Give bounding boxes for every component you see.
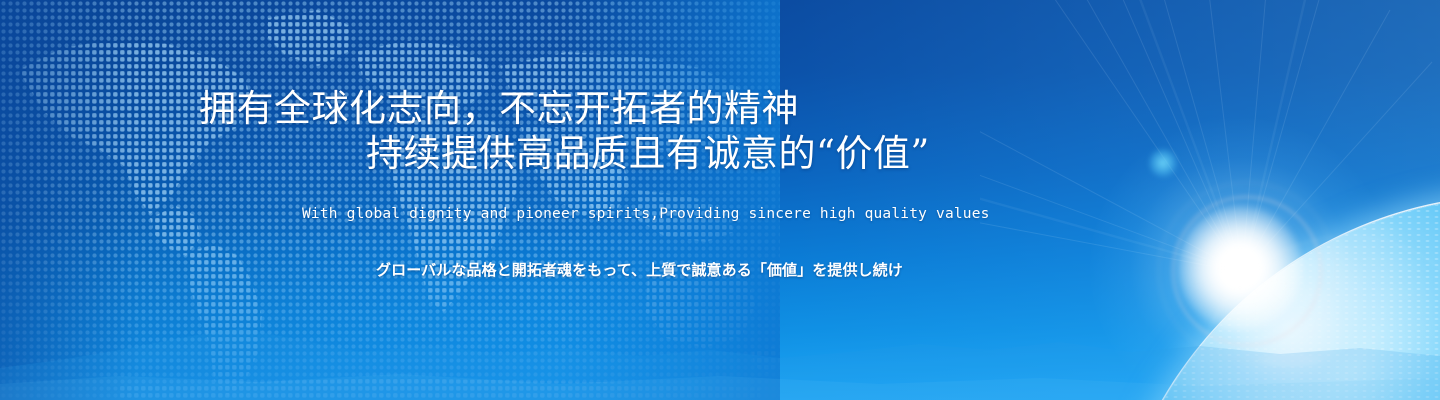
headline-line-2: 持续提供高品质且有诚意的“价值” — [366, 135, 930, 172]
world-map-dots — [0, 0, 780, 400]
earth-globe — [1108, 196, 1440, 400]
lens-flare-dot — [1148, 148, 1178, 178]
hero-banner: 拥有全球化志向，不忘开拓者的精神 持续提供高品质且有诚意的“价值” With g… — [0, 0, 1440, 400]
world-map-shape — [0, 0, 780, 400]
headline-line-1: 拥有全球化志向，不忘开拓者的精神 — [199, 90, 799, 127]
earth-atmosphere-rim — [1108, 196, 1440, 400]
subtitle-japanese: グローバルな品格と開拓者魂をもって、上質で誠意ある「価値」を提供し続け — [376, 259, 903, 280]
world-map-fade — [0, 0, 780, 400]
world-map-graphic — [0, 0, 780, 400]
subtitle-english: With global dignity and pioneer spirits,… — [302, 206, 990, 222]
